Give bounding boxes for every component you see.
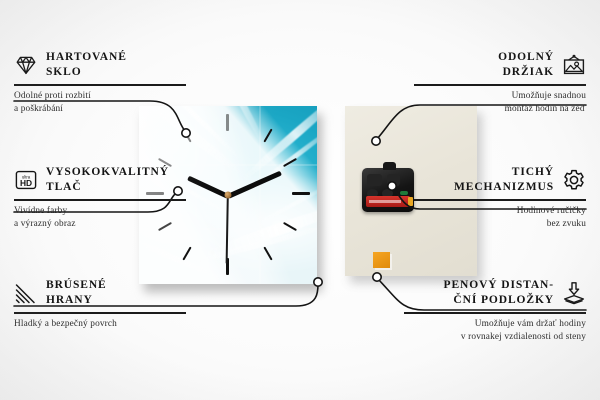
tick-1 (263, 129, 272, 143)
picture-hanger-icon (562, 53, 586, 77)
tick-12 (226, 114, 229, 131)
feature-title: TICHÝ MECHANIZMUS (454, 165, 554, 195)
feature-high-quality-print: ultra HD VYSOKOKVALITNÝ TLAČ Vivídne far… (14, 165, 186, 230)
feature-title: HARTOVANÉ SKLO (46, 50, 127, 80)
tick-5 (263, 247, 272, 261)
feature-silent-mechanism: TICHÝ MECHANIZMUS Hodinové ručičky bez z… (414, 165, 586, 230)
feature-title: VYSOKOKVALITNÝ TLAČ (46, 165, 169, 195)
clock-mechanism (362, 168, 414, 212)
diamond-icon (14, 53, 38, 77)
feature-title: PENOVÝ DISTAN- ČNÍ PODLOŽKY (444, 278, 554, 308)
feature-rule (404, 312, 586, 313)
feature-description: Umožňuje snadnou montáž hodin na zeď (414, 90, 586, 116)
feature-rule (14, 199, 186, 200)
feature-description: Odolné proti rozbití a poškrábání (14, 90, 186, 116)
tick-7 (182, 247, 191, 261)
feature-title: ODOLNÝ DRŽIAK (498, 50, 554, 80)
feature-title: BRÚSENÉ HRANY (46, 278, 107, 308)
feature-description: Vivídne farby a výrazný obraz (14, 205, 186, 231)
foam-spacer-pad (373, 252, 390, 268)
feature-description: Hladký a bezpečný povrch (14, 318, 186, 331)
feature-description: Umožňuje vám držať hodiny v rovnakej vzd… (404, 318, 586, 344)
svg-text:HD: HD (20, 178, 32, 188)
press-down-pad-icon (562, 281, 586, 305)
feature-durable-holder: ODOLNÝ DRŽIAK Umožňuje snadnou montáž ho… (414, 50, 586, 115)
feature-rule (14, 312, 186, 313)
gear-icon (562, 168, 586, 192)
feature-tempered-glass: HARTOVANÉ SKLO Odolné proti rozbití a po… (14, 50, 186, 115)
tick-3 (292, 192, 310, 195)
infographic-canvas: HARTOVANÉ SKLO Odolné proti rozbití a po… (0, 0, 600, 400)
ultra-hd-icon: ultra HD (14, 168, 38, 192)
feature-polished-edges: BRÚSENÉ HRANY Hladký a bezpečný povrch (14, 278, 186, 331)
hatch-lines-icon (14, 281, 38, 305)
clock-center-pin (225, 192, 232, 199)
clock-hand-minute (227, 171, 282, 199)
clock-battery (366, 196, 410, 207)
feature-foam-spacers: PENOVÝ DISTAN- ČNÍ PODLOŽKY Umožňuje vám… (404, 278, 586, 343)
feature-rule (414, 84, 586, 85)
feature-rule (414, 199, 586, 200)
feature-description: Hodinové ručičky bez zvuku (414, 205, 586, 231)
feature-rule (14, 84, 186, 85)
